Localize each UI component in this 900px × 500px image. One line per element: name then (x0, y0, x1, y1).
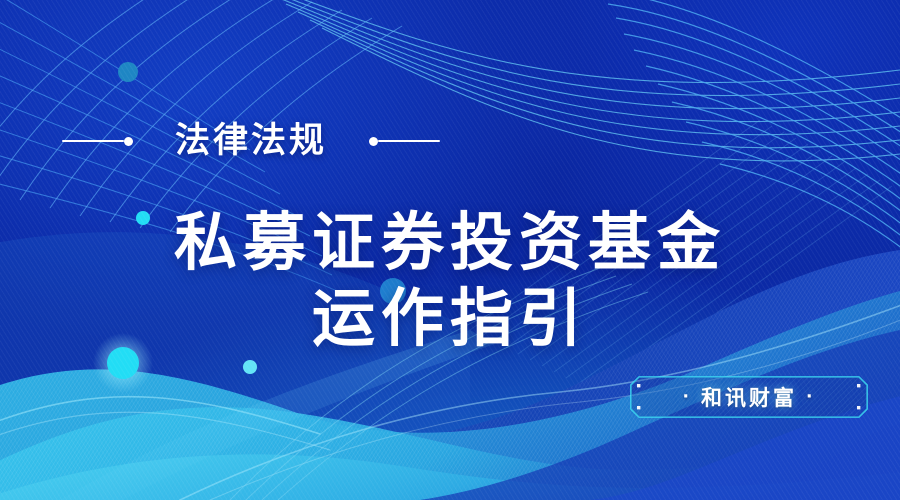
decor-circle-cyan-small (243, 360, 257, 374)
badge-right-dot: · (797, 387, 824, 407)
title-line-1: 私募证券投资基金 (0, 206, 900, 280)
eyebrow: 法律法规 (62, 114, 440, 168)
decor-circle-top-left (118, 62, 138, 82)
dash-dot-right-icon (369, 137, 440, 146)
wave-cyan-pale (0, 454, 900, 500)
eyebrow-label: 法律法规 (175, 124, 327, 159)
rule-dot (369, 137, 378, 146)
badge-brand-name: 和讯财富 (701, 382, 797, 412)
brand-badge-label: · 和讯财富 · (629, 375, 869, 419)
rule-line (378, 140, 440, 142)
page-title: 私募证券投资基金 运作指引 (0, 206, 900, 357)
wave-cyan-bright-texture (0, 407, 900, 500)
rule-dot (124, 137, 133, 146)
brand-badge: · 和讯财富 · (629, 375, 869, 419)
banner: 法律法规 私募证券投资基金 运作指引 · 和讯财富 · (0, 0, 900, 500)
badge-left-dot: · (674, 387, 701, 407)
dash-dot-left-icon (62, 137, 133, 146)
rule-line (62, 140, 124, 142)
wave-cyan-bright (0, 407, 900, 500)
title-line-2: 运作指引 (0, 282, 900, 356)
